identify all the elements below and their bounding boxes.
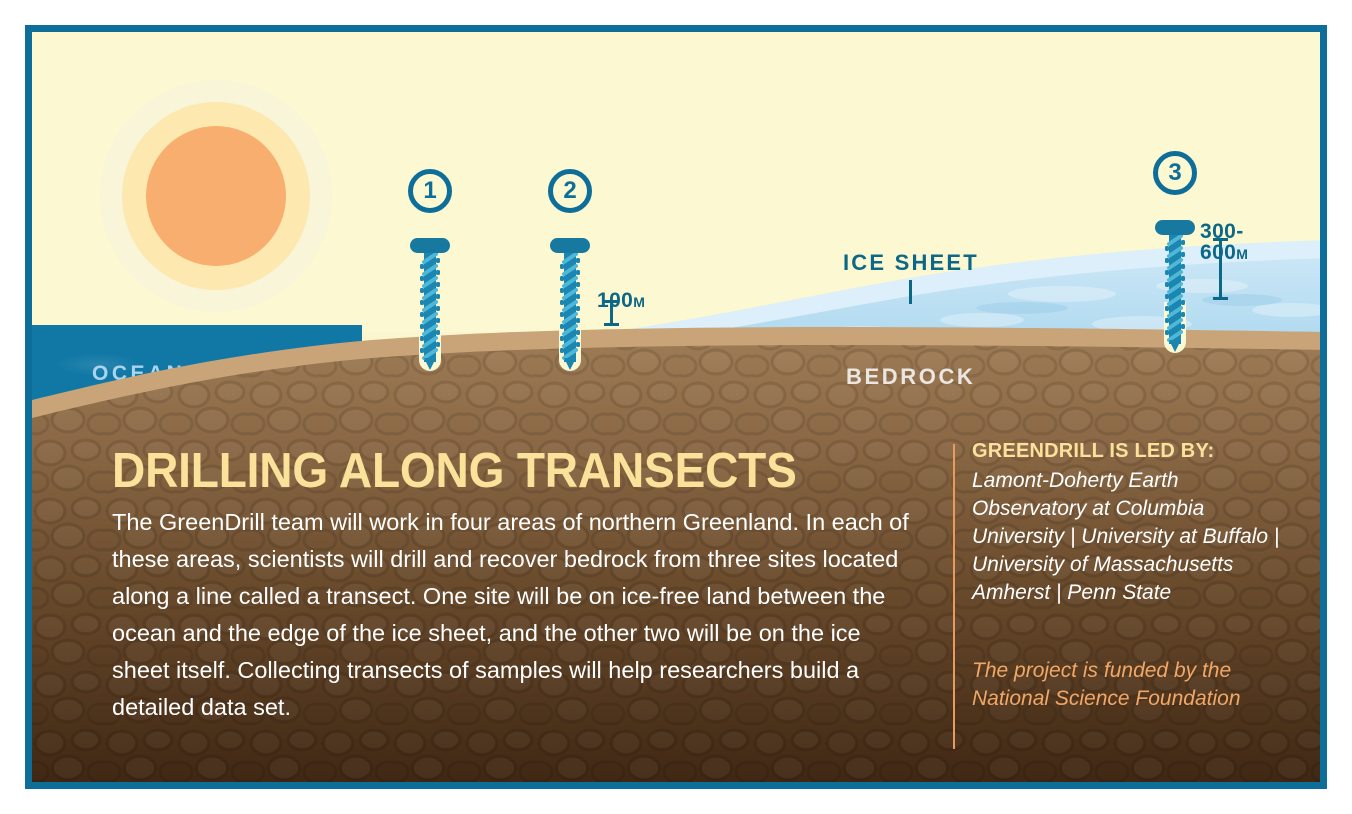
drill-site-1[interactable]: [407, 224, 453, 374]
depth-unit-site-2: M: [633, 294, 645, 310]
ice-sheet-label: ICE SHEET: [843, 250, 979, 276]
bedrock-label: BEDROCK: [846, 364, 975, 390]
drill-site-2[interactable]: [547, 224, 593, 374]
credits-institutions: Lamont-Doherty Earth Observatory at Colu…: [972, 467, 1290, 607]
credits-heading: GREENDRILL IS LED BY:: [972, 440, 1290, 463]
depth-bar-site-3: [1219, 238, 1222, 300]
body-paragraph: The GreenDrill team will work in four ar…: [112, 504, 924, 726]
depth-label-site-3: 300- 600M: [1200, 204, 1248, 264]
site-marker-2[interactable]: 2: [548, 169, 592, 213]
illustration-stage: OCEAN: [32, 32, 1320, 782]
site-marker-1[interactable]: 1: [408, 169, 452, 213]
credits-funding: The project is funded by the National Sc…: [972, 657, 1290, 713]
page-title: DRILLING ALONG TRANSECTS: [112, 443, 883, 499]
depth-label-site-2: 100M: [597, 273, 645, 311]
credits-divider: [953, 444, 955, 749]
site-marker-3[interactable]: 3: [1153, 151, 1197, 195]
drill-site-3[interactable]: [1152, 206, 1198, 356]
depth-unit-site-3: M: [1236, 246, 1248, 262]
depth-bar-site-2: [610, 300, 613, 326]
poster-frame: OCEAN: [25, 25, 1327, 789]
ice-sheet-leader-line: [909, 280, 912, 304]
sun-icon: [146, 126, 286, 266]
